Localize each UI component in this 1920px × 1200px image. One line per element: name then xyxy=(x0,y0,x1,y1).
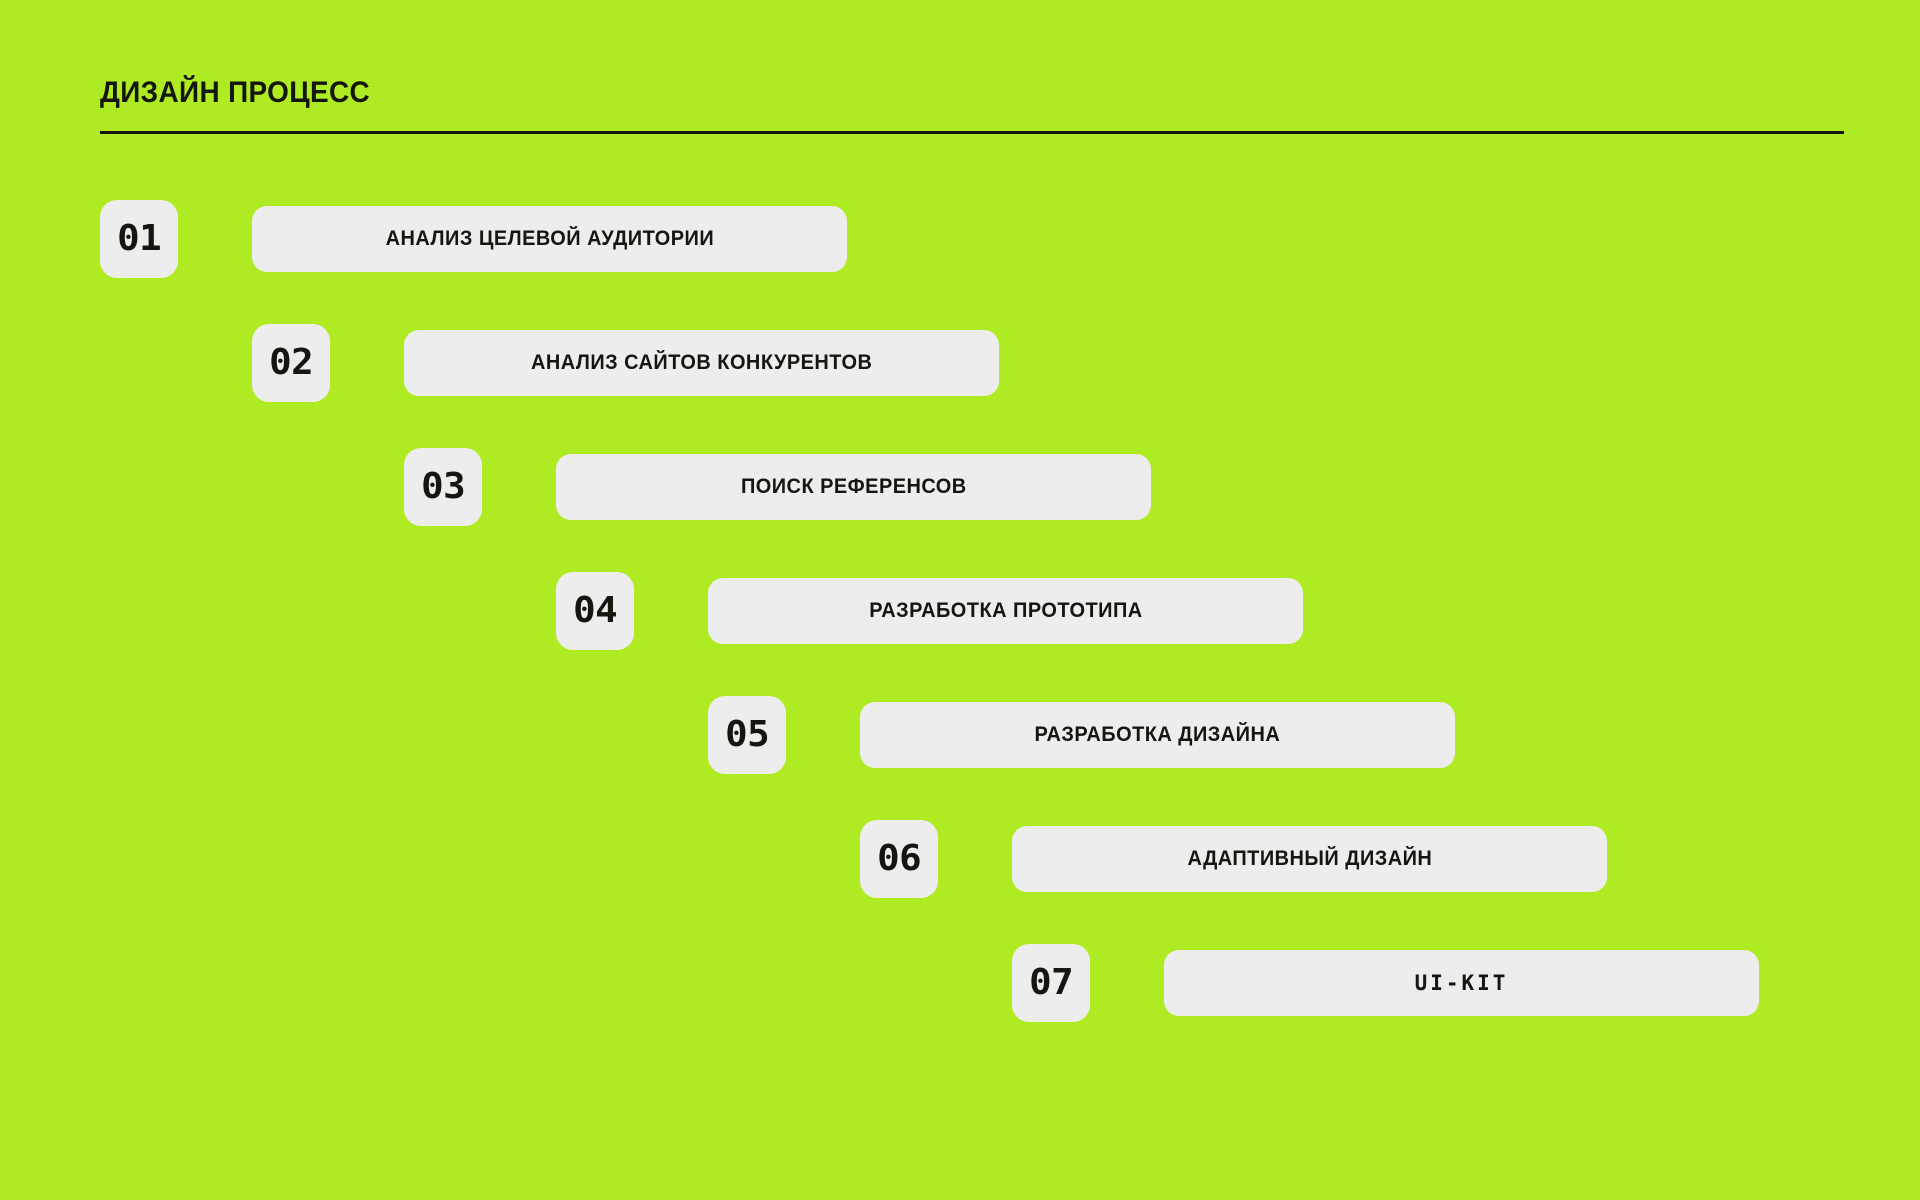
step-label-text: АНАЛИЗ ЦЕЛЕВОЙ АУДИТОРИИ xyxy=(385,227,714,251)
step-label-pill[interactable]: UI-KIT xyxy=(1164,950,1759,1016)
step-number-badge[interactable]: 05 xyxy=(708,696,786,774)
process-step-row: 02АНАЛИЗ САЙТОВ КОНКУРЕНТОВ xyxy=(100,324,1844,402)
process-step-row: 05РАЗРАБОТКА ДИЗАЙНА xyxy=(100,696,1844,774)
step-number-label: 03 xyxy=(421,469,465,505)
slide-header: ДИЗАЙН ПРОЦЕСС xyxy=(100,78,1844,134)
process-step-row: 04РАЗРАБОТКА ПРОТОТИПА xyxy=(100,572,1844,650)
step-number-badge[interactable]: 01 xyxy=(100,200,178,278)
step-label-text: ПОИСК РЕФЕРЕНСОВ xyxy=(741,475,967,499)
step-number-label: 05 xyxy=(725,717,769,753)
step-number-badge[interactable]: 07 xyxy=(1012,944,1090,1022)
step-number-label: 07 xyxy=(1029,965,1073,1001)
step-number-badge[interactable]: 04 xyxy=(556,572,634,650)
step-label-pill[interactable]: АДАПТИВНЫЙ ДИЗАЙН xyxy=(1012,826,1607,892)
page-title: ДИЗАЙН ПРОЦЕСС xyxy=(100,78,1722,108)
step-label-pill[interactable]: АНАЛИЗ ЦЕЛЕВОЙ АУДИТОРИИ xyxy=(252,206,847,272)
step-label-pill[interactable]: РАЗРАБОТКА ПРОТОТИПА xyxy=(708,578,1303,644)
step-label-pill[interactable]: АНАЛИЗ САЙТОВ КОНКУРЕНТОВ xyxy=(404,330,999,396)
process-step-row: 01АНАЛИЗ ЦЕЛЕВОЙ АУДИТОРИИ xyxy=(100,200,1844,278)
process-steps-list: 01АНАЛИЗ ЦЕЛЕВОЙ АУДИТОРИИ02АНАЛИЗ САЙТО… xyxy=(100,200,1844,1022)
step-label-text: UI-KIT xyxy=(1415,971,1509,995)
step-label-text: АДАПТИВНЫЙ ДИЗАЙН xyxy=(1187,847,1432,871)
slide-root: ДИЗАЙН ПРОЦЕСС 01АНАЛИЗ ЦЕЛЕВОЙ АУДИТОРИ… xyxy=(0,0,1920,1200)
step-number-label: 01 xyxy=(117,221,161,257)
process-step-row: 06АДАПТИВНЫЙ ДИЗАЙН xyxy=(100,820,1844,898)
step-number-badge[interactable]: 03 xyxy=(404,448,482,526)
step-label-pill[interactable]: РАЗРАБОТКА ДИЗАЙНА xyxy=(860,702,1455,768)
process-step-row: 03ПОИСК РЕФЕРЕНСОВ xyxy=(100,448,1844,526)
step-label-text: РАЗРАБОТКА ПРОТОТИПА xyxy=(869,599,1142,623)
step-label-pill[interactable]: ПОИСК РЕФЕРЕНСОВ xyxy=(556,454,1151,520)
process-step-row: 07UI-KIT xyxy=(100,944,1844,1022)
step-number-label: 04 xyxy=(573,593,617,629)
title-divider xyxy=(100,131,1844,134)
step-label-text: РАЗРАБОТКА ДИЗАЙНА xyxy=(1035,723,1281,747)
step-label-text: АНАЛИЗ САЙТОВ КОНКУРЕНТОВ xyxy=(531,351,872,375)
step-number-label: 06 xyxy=(877,841,921,877)
step-number-badge[interactable]: 02 xyxy=(252,324,330,402)
step-number-badge[interactable]: 06 xyxy=(860,820,938,898)
step-number-label: 02 xyxy=(269,345,313,381)
